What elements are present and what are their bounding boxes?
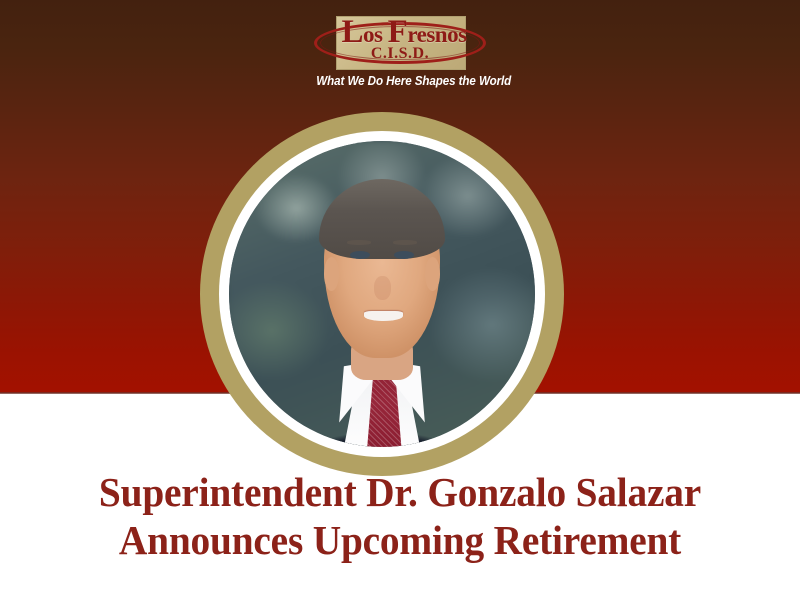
portrait-gold-ring [200, 112, 564, 476]
announcement-poster: Los Fresnos C.I.S.D. What We Do Here Sha… [0, 0, 800, 600]
logo-tagline: What We Do Here Shapes the World [316, 74, 483, 88]
title-line-1: Superintendent Dr. Gonzalo Salazar [16, 468, 784, 516]
logo-mark: Los Fresnos C.I.S.D. [310, 12, 490, 74]
logo-resnos: resnos [407, 22, 466, 47]
district-logo: Los Fresnos C.I.S.D. What We Do Here Sha… [310, 12, 490, 96]
page-title: Superintendent Dr. Gonzalo Salazar Annou… [16, 468, 784, 564]
logo-text-group: Los Fresnos C.I.S.D. [310, 12, 490, 70]
portrait-white-ring [219, 131, 545, 457]
title-line-2: Announces Upcoming Retirement [16, 516, 784, 564]
photo-ear-right [425, 257, 440, 291]
photo-nose [374, 276, 391, 300]
photo-eye-left [350, 251, 370, 259]
portrait-photo [229, 141, 535, 447]
logo-os: os [363, 22, 388, 47]
photo-ear-left [324, 257, 339, 291]
logo-cisd-text: C.I.S.D. [336, 45, 464, 63]
